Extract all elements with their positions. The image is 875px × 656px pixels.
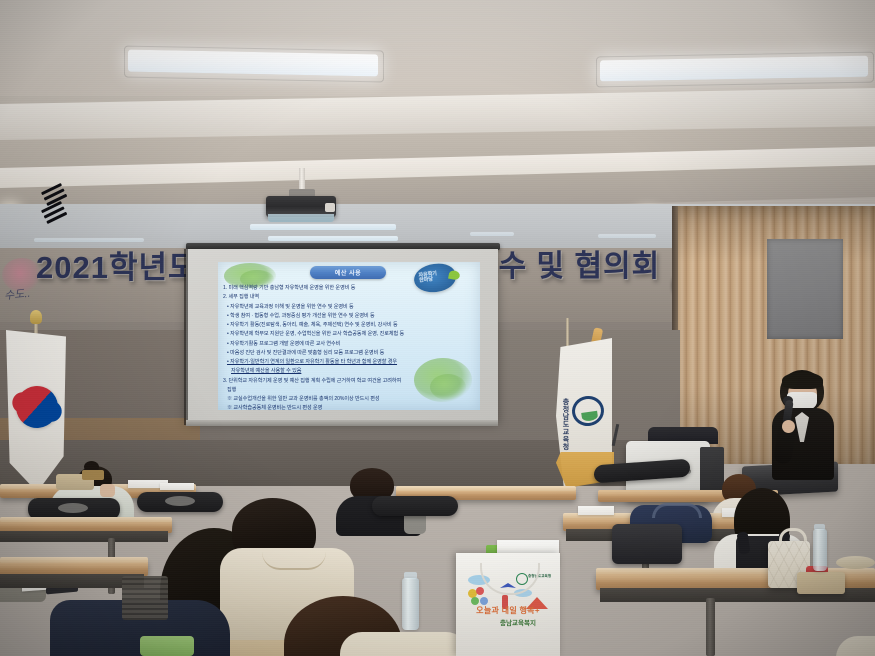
slide-line: • 자유학년제 학부모 지원단 운영, 수업혁신을 위한 교사 학습공동체 운영…: [223, 330, 475, 339]
slide-line: 1. 미래 핵심역량 기반 충남형 자유학년제 운영을 위한 운영비 등: [223, 284, 475, 293]
projector-lens-icon: [325, 203, 335, 212]
slide-line: • 자유학기활동 프로그램 개발 운영에 따른 교사 연수비: [223, 340, 475, 349]
conference-room-photo: 수도.. 2021학년도 연수 및 협의회 예산 사용 자유학기한마당 1. 미…: [0, 0, 875, 656]
slide-line: 2. 세부 집행 내역: [223, 293, 475, 302]
slide-line: 집행: [223, 386, 475, 395]
slide-title-pill: 예산 사용: [310, 266, 386, 279]
attendee-back-left-mask: [100, 484, 115, 497]
projection-screen-bottom-bar: [186, 420, 498, 426]
handout-paper-3: [578, 506, 614, 515]
desk-row3-left-edge: [0, 557, 148, 563]
water-bottle-front[interactable]: [402, 578, 419, 630]
attendee-front-far-right-top: [836, 636, 875, 656]
chair-row1-a-cutout: [58, 503, 88, 513]
cove-light-strip-a: [250, 224, 396, 230]
placard-subtitle: 충남교육복지: [478, 617, 558, 627]
slide-line: • 자유학기 활동(진로탐색, 동아리, 예술, 체육, 주제선택) 연수 및 …: [223, 321, 475, 330]
korean-flag-finial: [30, 310, 42, 324]
banner-script-mark: 수도..: [3, 285, 31, 304]
slide-line: 자유학년제 예산을 사용할 수 있음: [223, 367, 475, 376]
cove-light-strip-e: [34, 238, 144, 242]
equipment-side-unit: [700, 447, 724, 493]
slide-line: • 학생 참여 · 협동형 수업, 과정중심 평가 개선을 위한 연수 및 운영…: [223, 312, 475, 321]
desk-row2-left-apron: [0, 531, 168, 542]
slide-line: • 마음성 진단 검사 및 진단결과에 따른 맞춤형 심리 모둠 프로그램 운영…: [223, 349, 475, 358]
navy-backpack-strap: [652, 503, 702, 518]
institution-flag-text: 충청남도교육청: [560, 398, 570, 451]
cove-light-strip-c: [470, 232, 514, 236]
cove-light-strip-d: [598, 234, 656, 238]
attendee-front-right-cream-top: [340, 632, 468, 656]
projector-underside: [268, 214, 334, 222]
water-bottle-right[interactable]: [813, 529, 827, 571]
desk-row2-left-edge: [0, 517, 172, 522]
chair-row1-b-cutout: [165, 496, 195, 506]
lunchbox[interactable]: [797, 572, 845, 594]
banner-text-right: 연수 및 협의회: [470, 252, 660, 282]
slide-line: 3. 단위학교 자유학기제 운영 및 예산 집행 계획 수립에 근거하여 학교 …: [223, 377, 475, 386]
chair-row1-c: [372, 496, 458, 516]
placard-balloon-green: [471, 597, 479, 605]
paper-plate: [836, 556, 875, 569]
desk-storage-basket: [122, 576, 168, 620]
handout-paper-2: [160, 483, 194, 490]
placard-title: 오늘과 내일 행복+: [462, 605, 554, 616]
slide-line: ※ 교사학습공동체 운영비는 반드시 편성 운영: [223, 404, 475, 410]
placard-balloon-blue: [480, 597, 488, 605]
chair-row3-right: [612, 524, 682, 564]
slide-mascot-label: 자유학기한마당: [418, 272, 438, 285]
slide-line: • 자유학년제 교육과정 이해 및 운영을 위한 연수 및 운영비 등: [223, 303, 475, 312]
projected-slide: 예산 사용 자유학기한마당 1. 미래 핵심역량 기반 충남형 자유학년제 운영…: [218, 262, 480, 410]
slide-body-text: 1. 미래 핵심역량 기반 충남형 자유학년제 운영을 위한 운영비 등2. 세…: [223, 284, 475, 410]
projection-screen-edge-shadow: [184, 249, 188, 425]
gray-wall-panel: [767, 239, 843, 339]
slide-line: • 자유학기-일반학기 연계의 일환으로 자유학기 활동을 타 학년과 함께 운…: [223, 358, 475, 367]
desk-row1-center-edge: [396, 486, 576, 491]
lunchbox-left-lid: [82, 470, 104, 480]
placard-balloon-red: [476, 587, 484, 595]
attendee-front-curly-necklace: [262, 552, 326, 570]
desk-row3-right-leg: [706, 598, 715, 656]
slide-title-text: 예산 사용: [335, 268, 361, 277]
presenter: [762, 370, 840, 480]
cove-light-strip-b: [268, 236, 398, 241]
presenter-hand: [782, 420, 795, 433]
slide-line: ※ 교실수업개선을 위한 일반 교과 운영비를 총액의 20%이상 반드시 편성: [223, 395, 475, 404]
presenter-bangs: [782, 372, 823, 389]
green-folder-foreground: [140, 636, 194, 656]
banner-text-left: 2021학년도: [36, 252, 198, 283]
